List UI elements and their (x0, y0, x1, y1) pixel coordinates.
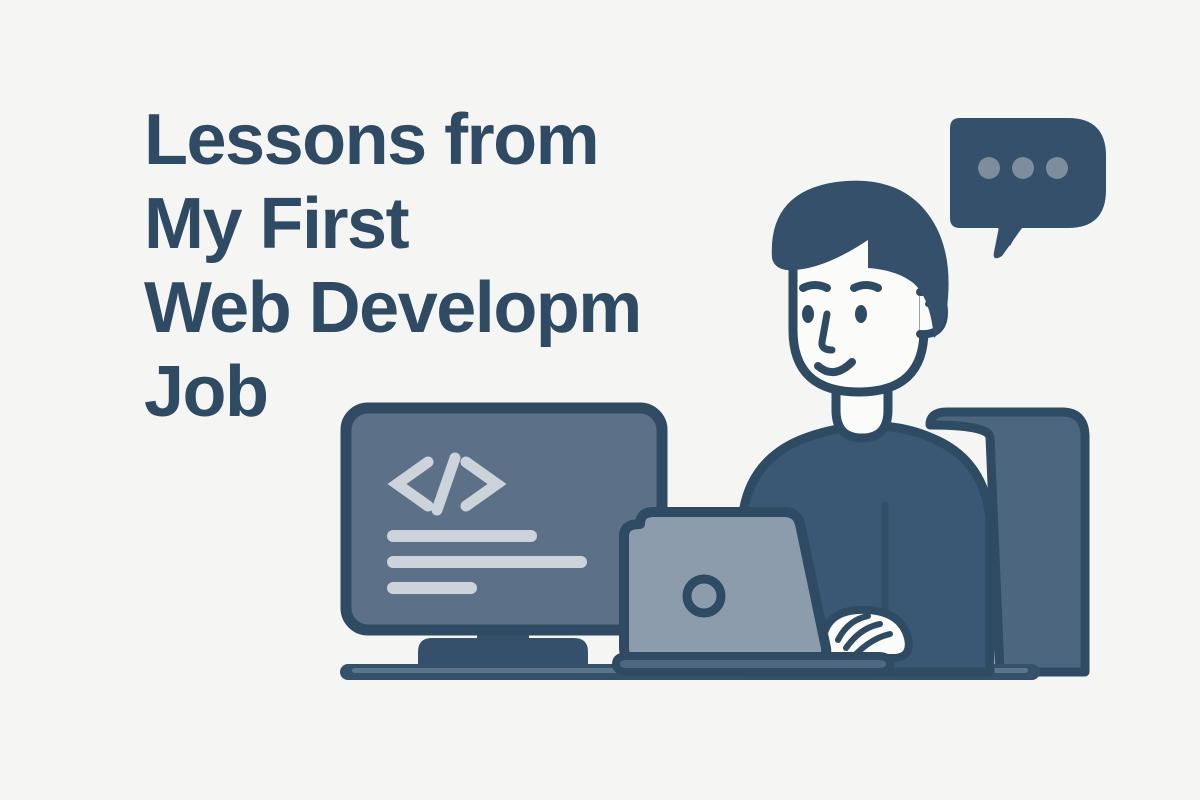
code-line-1 (387, 530, 537, 542)
title-line-2: My First (144, 182, 784, 266)
bubble-dot-3 (1046, 157, 1068, 179)
desktop-monitor (346, 408, 662, 666)
left-eyebrow (803, 285, 827, 288)
poster-canvas: Lessons from My First Web Developm Job (0, 0, 1200, 800)
title-line-1: Lessons from (144, 98, 784, 182)
page-title: Lessons from My First Web Developm Job (144, 98, 784, 434)
right-eye (855, 305, 867, 323)
code-line-3 (387, 582, 477, 594)
code-line-2 (387, 556, 587, 568)
right-eyebrow (854, 285, 878, 288)
speech-bubble (950, 118, 1106, 258)
title-line-4: Job (144, 350, 784, 434)
title-line-3: Web Developm (144, 266, 784, 350)
bubble-dot-1 (978, 157, 1000, 179)
typing-hand (822, 610, 909, 658)
left-eye (802, 305, 814, 323)
bubble-dot-2 (1012, 157, 1034, 179)
